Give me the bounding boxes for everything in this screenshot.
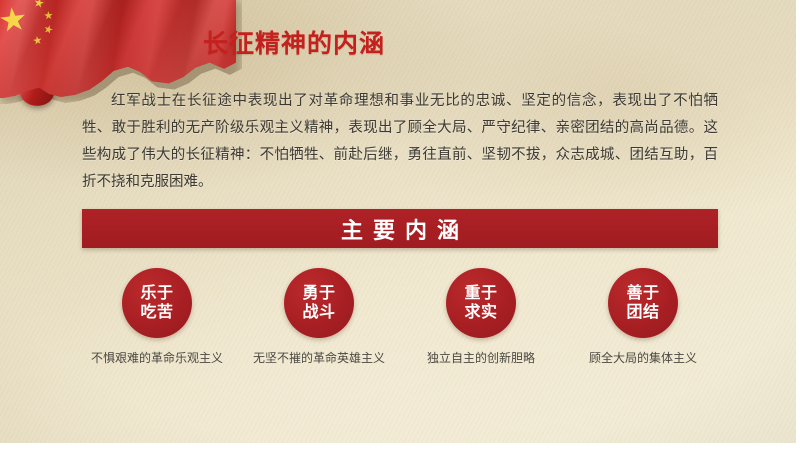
flag-star-small-1-icon [33, 0, 45, 9]
pillar-circle-line-1: 重于 [464, 284, 497, 303]
right-trim [796, 0, 800, 450]
flag-icon [0, 0, 236, 98]
flag-star-small-4-icon [32, 35, 42, 45]
section-banner-label: 主要内涵 [82, 209, 718, 248]
pillar-item: 勇于 战斗 无坚不摧的革命英雄主义 [244, 268, 394, 403]
pillar-circle-line-2: 求实 [464, 303, 497, 322]
body-paragraph: 红军战士在长征途中表现出了对革命理想和事业无比的忠诚、坚定的信念，表现出了不怕牺… [82, 88, 718, 196]
pillar-caption: 无坚不摧的革命英雄主义 [244, 349, 394, 367]
pillar-caption: 独立自主的创新胆略 [406, 349, 556, 367]
page-title: 长征精神的内涵 [203, 24, 385, 60]
pillar-caption: 顾全大局的集体主义 [568, 349, 718, 367]
pillar-circle-line-2: 团结 [626, 303, 659, 322]
pillar-circle-line-1: 乐于 [140, 284, 173, 303]
pillar-item: 善于 团结 顾全大局的集体主义 [568, 268, 718, 403]
pillar-circle-line-2: 吃苦 [140, 303, 173, 322]
flag-star-small-3-icon [43, 24, 54, 35]
pillar-circle-line-1: 善于 [626, 284, 659, 303]
pillar-item: 重于 求实 独立自主的创新胆略 [406, 268, 556, 403]
section-banner: 主要内涵 [82, 209, 718, 248]
pillar-circle: 重于 求实 [446, 268, 516, 338]
bottom-trim [0, 443, 800, 450]
pillar-circle-line-2: 战斗 [302, 303, 335, 322]
pillar-circle: 勇于 战斗 [284, 268, 354, 338]
pillar-caption: 不惧艰难的革命乐观主义 [82, 349, 232, 367]
flag-star-small-2-icon [44, 11, 54, 21]
pillar-circle-line-1: 勇于 [302, 284, 335, 303]
pillar-item: 乐于 吃苦 不惧艰难的革命乐观主义 [82, 268, 232, 403]
pillar-circle: 善于 团结 [608, 268, 678, 338]
slide-canvas: 长征精神的内涵 红军战士在长征途中表现出了对革命理想和事业无比的忠诚、坚定的信念… [0, 0, 800, 450]
pillar-row: 乐于 吃苦 不惧艰难的革命乐观主义 勇于 战斗 无坚不摧的革命英雄主义 重于 求… [82, 268, 718, 403]
flag-star-large-icon [0, 6, 27, 35]
pillar-circle: 乐于 吃苦 [122, 268, 192, 338]
